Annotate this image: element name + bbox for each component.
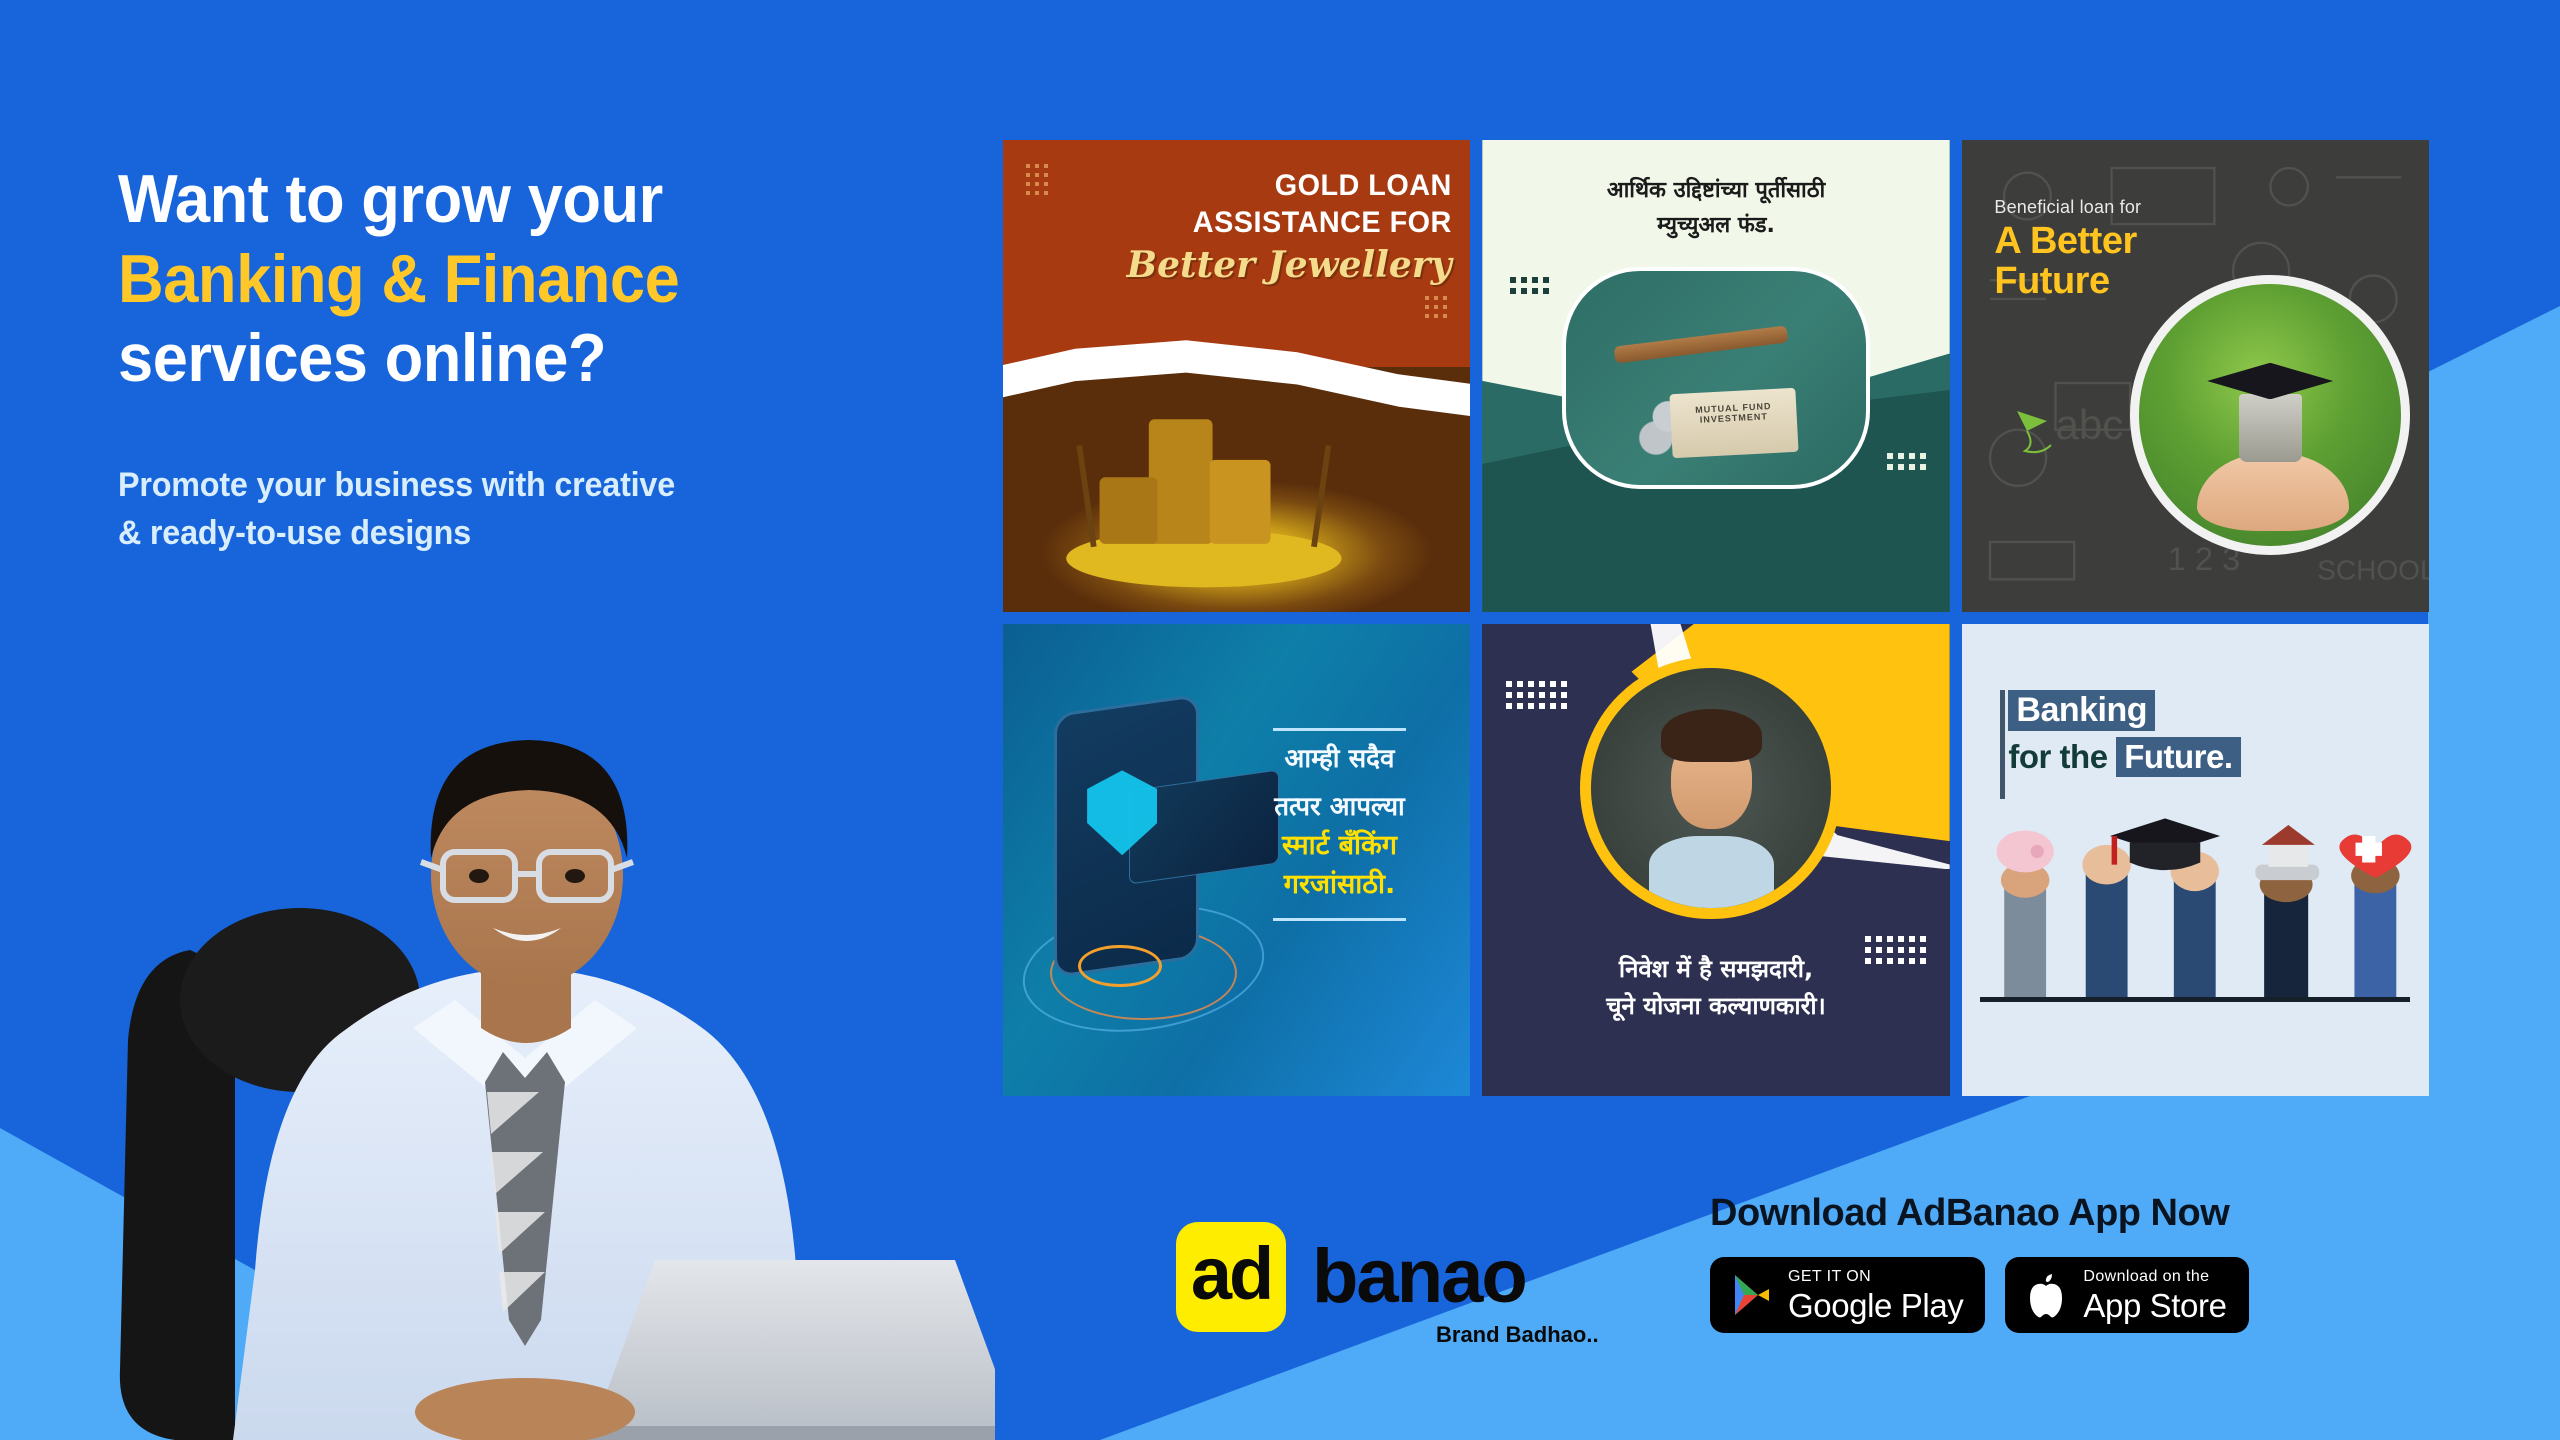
- ground-line: [1980, 997, 2410, 1002]
- subcopy-line-1: Promote your business with creative: [118, 461, 954, 509]
- card-headline-line-1: आर्थिक उद्दिष्टांच्या पूर्तीसाठी: [1520, 173, 1913, 208]
- currency-notes-graphic: MUTUAL FUND INVESTMENT: [1669, 388, 1798, 459]
- headline-line-1: Want to grow your: [118, 160, 936, 240]
- card-text: निवेश में है समझदारी, चूने योजना कल्याणक…: [1482, 951, 1949, 1025]
- subcopy-line-2: & ready-to-use designs: [118, 509, 954, 557]
- card-script-line: Better Jewellery: [1106, 246, 1452, 286]
- google-play-icon: [1732, 1273, 1772, 1317]
- graduation-cap-icon: [2207, 363, 2333, 400]
- shirt-graphic: [1649, 836, 1774, 908]
- dot-pattern-icon: [1506, 681, 1567, 709]
- health-heart-icon: [2340, 835, 2412, 878]
- eye-right: [565, 869, 585, 883]
- template-card-banking-future[interactable]: Banking for the Future.: [1962, 624, 2429, 1096]
- card-headline-line-1: निवेश में है समझदारी,: [1520, 951, 1913, 988]
- app-store-small-label: Download on the: [2083, 1269, 2226, 1285]
- card-headline-line-1: Banking: [2008, 690, 2155, 731]
- graduation-savings-photo: [2130, 275, 2410, 555]
- house-icon: [2256, 825, 2320, 880]
- logo-mark: ad: [1176, 1222, 1286, 1332]
- dot-pattern-icon: [1026, 164, 1048, 195]
- card-headline-line-2a: for the: [2008, 738, 2116, 775]
- card-headline-line-4: गरजांसाठी.: [1232, 865, 1447, 904]
- man-chalkboard-photo: [1580, 657, 1842, 919]
- card-headline-line-2b: Future.: [2116, 737, 2240, 777]
- template-card-mutual-fund[interactable]: MUTUAL FUND INVESTMENT आर्थिक उद्दिष्टां…: [1482, 140, 1949, 612]
- card-eyebrow: Beneficial loan for: [1994, 197, 2321, 218]
- card-headline-line-3: स्मार्ट बँकिंग: [1232, 826, 1447, 865]
- businessman-photo: [95, 700, 995, 1440]
- dot-pattern-icon: [1887, 453, 1926, 470]
- template-card-smart-banking[interactable]: आम्ही सदैव तत्पर आपल्या स्मार्ट बँकिंग ग…: [1003, 624, 1470, 1096]
- glow-ring-graphic: [1078, 945, 1162, 987]
- store-badges: GET IT ON Google Play Download on the Ap…: [1710, 1257, 2249, 1333]
- laptop: [589, 1260, 995, 1440]
- piggy-bank-icon: [1997, 831, 2054, 873]
- savings-jar-graphic: [2239, 394, 2302, 462]
- card-text: आम्ही सदैव तत्पर आपल्या स्मार्ट बँकिंग ग…: [1232, 728, 1447, 922]
- card-headline-line-2: म्युच्युअल फंड.: [1520, 208, 1913, 243]
- hand-graphic: [2197, 452, 2349, 531]
- template-card-nivesh[interactable]: निवेश में है समझदारी, चूने योजना कल्याणक…: [1482, 624, 1949, 1096]
- divider-bottom: [1273, 918, 1406, 921]
- card-headline-line-2: ASSISTANCE FOR: [1120, 205, 1452, 242]
- card-headline-line-1: आम्ही सदैव: [1232, 741, 1447, 779]
- dot-pattern-icon: [1425, 296, 1447, 318]
- svg-text:SCHOOL: SCHOOL: [2317, 554, 2429, 585]
- download-title: Download AdBanao App Now: [1710, 1192, 2249, 1235]
- card-text: Banking for the Future.: [2008, 690, 2240, 777]
- divider-top: [1273, 728, 1406, 731]
- notes-label: MUTUAL FUND INVESTMENT: [1677, 400, 1789, 426]
- pen-graphic: [1613, 325, 1788, 363]
- google-play-badge[interactable]: GET IT ON Google Play: [1710, 1257, 1985, 1333]
- card-text: आर्थिक उद्दिष्टांच्या पूर्तीसाठी म्युच्य…: [1482, 173, 1949, 243]
- headline-line-3: services online?: [118, 319, 936, 399]
- adbanao-logo[interactable]: ad banao: [1176, 1222, 1526, 1332]
- app-store-large-label: App Store: [2083, 1289, 2226, 1322]
- google-play-small-label: GET IT ON: [1788, 1269, 1963, 1285]
- logo-mark-text: ad: [1191, 1237, 1271, 1311]
- raised-hands-illustration: [1980, 803, 2429, 1001]
- hair-graphic: [1661, 709, 1762, 762]
- paper-plane-icon: [2013, 401, 2083, 461]
- accent-bar: [2000, 690, 2005, 799]
- eye-left: [469, 869, 489, 883]
- template-card-better-future[interactable]: abc 1 2 3 SCHOOL Beneficial loan for A B…: [1962, 140, 2429, 612]
- gold-coin-stack-graphic: [1059, 385, 1349, 593]
- google-play-large-label: Google Play: [1788, 1289, 1963, 1322]
- logo-tagline: Brand Badhao..: [1436, 1322, 1599, 1348]
- card-headline-line-2: तत्पर आपल्या: [1232, 789, 1447, 827]
- download-section: Download AdBanao App Now GET IT ON Googl…: [1710, 1192, 2249, 1333]
- card-text: GOLD LOAN ASSISTANCE FOR Better Jeweller…: [1106, 168, 1452, 285]
- dot-pattern-icon: [1510, 277, 1549, 294]
- mutual-fund-photo: MUTUAL FUND INVESTMENT: [1562, 267, 1870, 489]
- hero-copy: Want to grow your Banking & Finance serv…: [118, 160, 998, 557]
- logo-wordmark: banao: [1312, 1239, 1526, 1315]
- template-card-gold-loan[interactable]: GOLD LOAN ASSISTANCE FOR Better Jeweller…: [1003, 140, 1470, 612]
- app-store-badge[interactable]: Download on the App Store: [2005, 1257, 2248, 1333]
- card-headline-line-1: GOLD LOAN: [1120, 168, 1452, 205]
- hero-subcopy: Promote your business with creative & re…: [118, 461, 954, 558]
- headline-line-2: Banking & Finance: [118, 240, 936, 320]
- apple-icon: [2027, 1272, 2067, 1318]
- page-title: Want to grow your Banking & Finance serv…: [118, 160, 936, 399]
- template-gallery: GOLD LOAN ASSISTANCE FOR Better Jeweller…: [1003, 140, 2429, 1096]
- card-headline-line-2: चूने योजना कल्याणकारी।: [1520, 988, 1913, 1025]
- card-headline-line-1: A Better: [1994, 222, 2321, 262]
